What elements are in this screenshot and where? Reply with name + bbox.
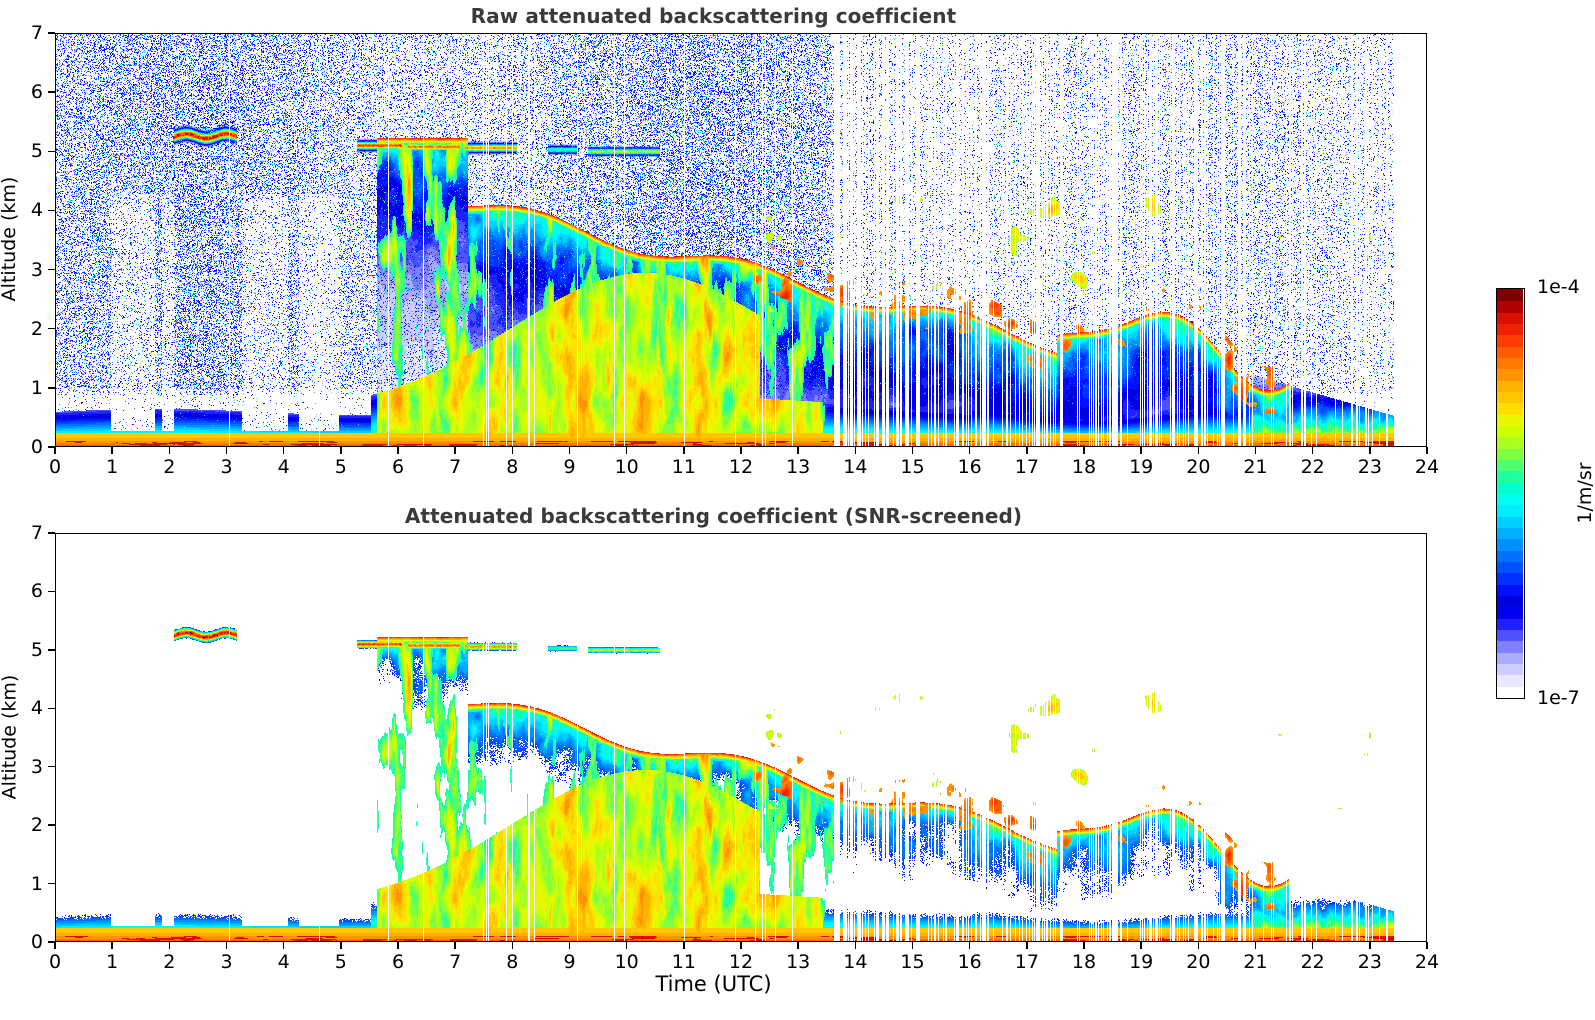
colorbar-gradient[interactable] bbox=[1496, 288, 1525, 699]
colorbar-canvas bbox=[1497, 289, 1523, 697]
figure-root: Raw attenuated backscattering coefficien… bbox=[0, 0, 1595, 1020]
colorbar-unit-label: 1/m/sr bbox=[1574, 433, 1595, 553]
colorbar-min-label: 1e-7 bbox=[1537, 687, 1580, 709]
colorbar: 1e-4 1e-7 1/m/sr bbox=[0, 0, 1595, 1020]
colorbar-max-label: 1e-4 bbox=[1537, 276, 1580, 298]
